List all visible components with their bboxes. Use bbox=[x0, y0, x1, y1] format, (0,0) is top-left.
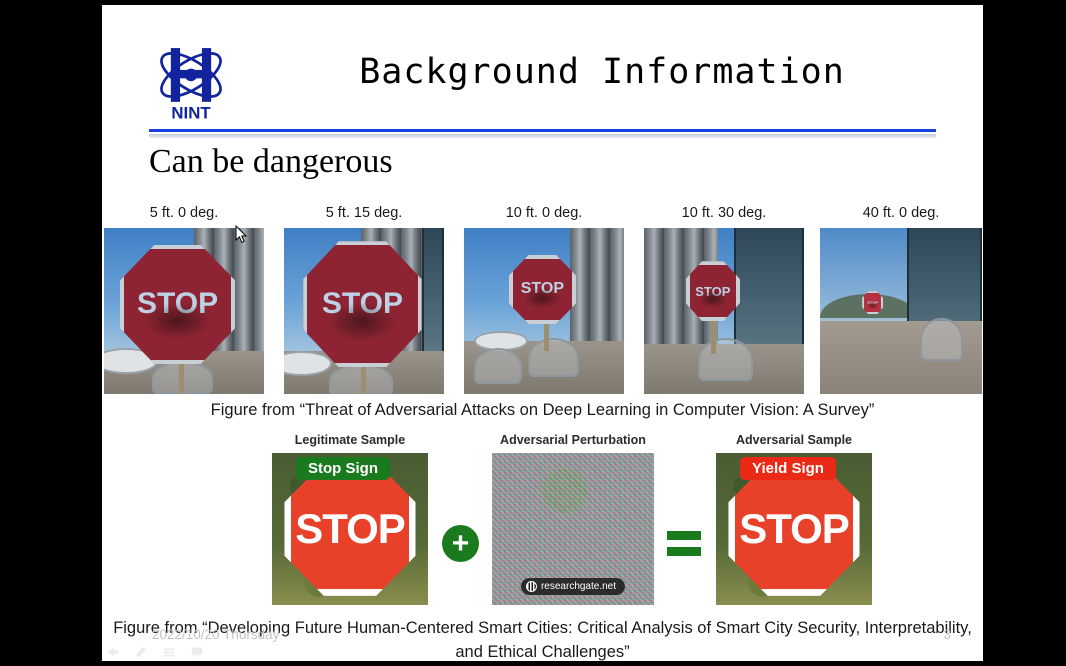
adv-panel-heading: Legitimate Sample bbox=[272, 433, 428, 447]
sign-text: STOP bbox=[739, 505, 849, 553]
photo-image: STOP bbox=[104, 228, 264, 394]
adversarial-example-row: Legitimate Sample STOP Stop Sign + Adver… bbox=[102, 433, 983, 623]
photo-cell[interactable]: 40 ft. 0 deg. STOP bbox=[820, 205, 982, 400]
researchgate-watermark: researchgate.net bbox=[521, 578, 625, 595]
adv-panel-image: researchgate.net bbox=[492, 453, 654, 605]
sign-text: STOP bbox=[695, 284, 730, 299]
figure-caption-1: Figure from “Threat of Adversarial Attac… bbox=[102, 401, 983, 420]
pen-icon[interactable] bbox=[134, 645, 148, 659]
nint-logo: NINT bbox=[149, 38, 233, 122]
sign-text: STOP bbox=[322, 287, 403, 321]
photo-label: 5 ft. 0 deg. bbox=[104, 205, 264, 221]
stop-sign-badge: Stop Sign bbox=[296, 457, 390, 480]
plus-operator-icon: + bbox=[442, 525, 479, 562]
logo-wordmark: NINT bbox=[171, 104, 211, 122]
photo-image: STOP bbox=[464, 228, 624, 394]
photo-label: 10 ft. 30 deg. bbox=[644, 205, 804, 221]
adv-panel-image: STOP Yield Sign bbox=[716, 453, 872, 605]
photo-cell[interactable]: 10 ft. 0 deg. STOP bbox=[464, 205, 624, 400]
slide-number: 3 bbox=[943, 627, 951, 642]
sign-text: STOP bbox=[521, 280, 564, 298]
comment-icon[interactable] bbox=[190, 645, 204, 659]
title-rule-blue bbox=[149, 129, 936, 132]
annotation-toolbar[interactable] bbox=[106, 645, 204, 659]
photo-cell[interactable]: 5 ft. 15 deg. STOP bbox=[284, 205, 444, 400]
equals-operator-icon bbox=[667, 525, 701, 561]
photo-image: STOP bbox=[644, 228, 804, 394]
photo-label: 5 ft. 15 deg. bbox=[284, 205, 444, 221]
photo-label: 10 ft. 0 deg. bbox=[464, 205, 624, 221]
screen: NINT Background Information Can be dange… bbox=[0, 0, 1066, 666]
sign-text: STOP bbox=[137, 287, 218, 321]
plus-glyph: + bbox=[452, 529, 470, 559]
photo-image: STOP bbox=[284, 228, 444, 394]
photo-label: 40 ft. 0 deg. bbox=[820, 205, 982, 221]
adv-panel-image: STOP Stop Sign bbox=[272, 453, 428, 605]
footer-date: 2022/10/20 Thursday bbox=[152, 627, 279, 642]
slide-subheading: Can be dangerous bbox=[149, 143, 393, 181]
adv-panel-heading: Adversarial Sample bbox=[716, 433, 872, 447]
pointer-icon[interactable] bbox=[106, 645, 120, 659]
photo-cell[interactable]: 10 ft. 30 deg. STOP bbox=[644, 205, 804, 400]
mouse-cursor bbox=[235, 225, 248, 249]
sign-text: STOP bbox=[867, 300, 878, 305]
menu-icon[interactable] bbox=[162, 645, 176, 659]
slide-title: Background Information bbox=[252, 52, 952, 92]
title-rule-grey bbox=[149, 134, 936, 138]
yield-sign-badge: Yield Sign bbox=[740, 457, 836, 480]
adv-panel-heading: Adversarial Perturbation bbox=[492, 433, 654, 447]
researchgate-icon bbox=[526, 581, 537, 592]
sign-text: STOP bbox=[295, 505, 405, 553]
photo-image: STOP bbox=[820, 228, 982, 394]
slide-canvas[interactable]: NINT Background Information Can be dange… bbox=[102, 5, 983, 661]
watermark-label: researchgate.net bbox=[541, 581, 616, 592]
